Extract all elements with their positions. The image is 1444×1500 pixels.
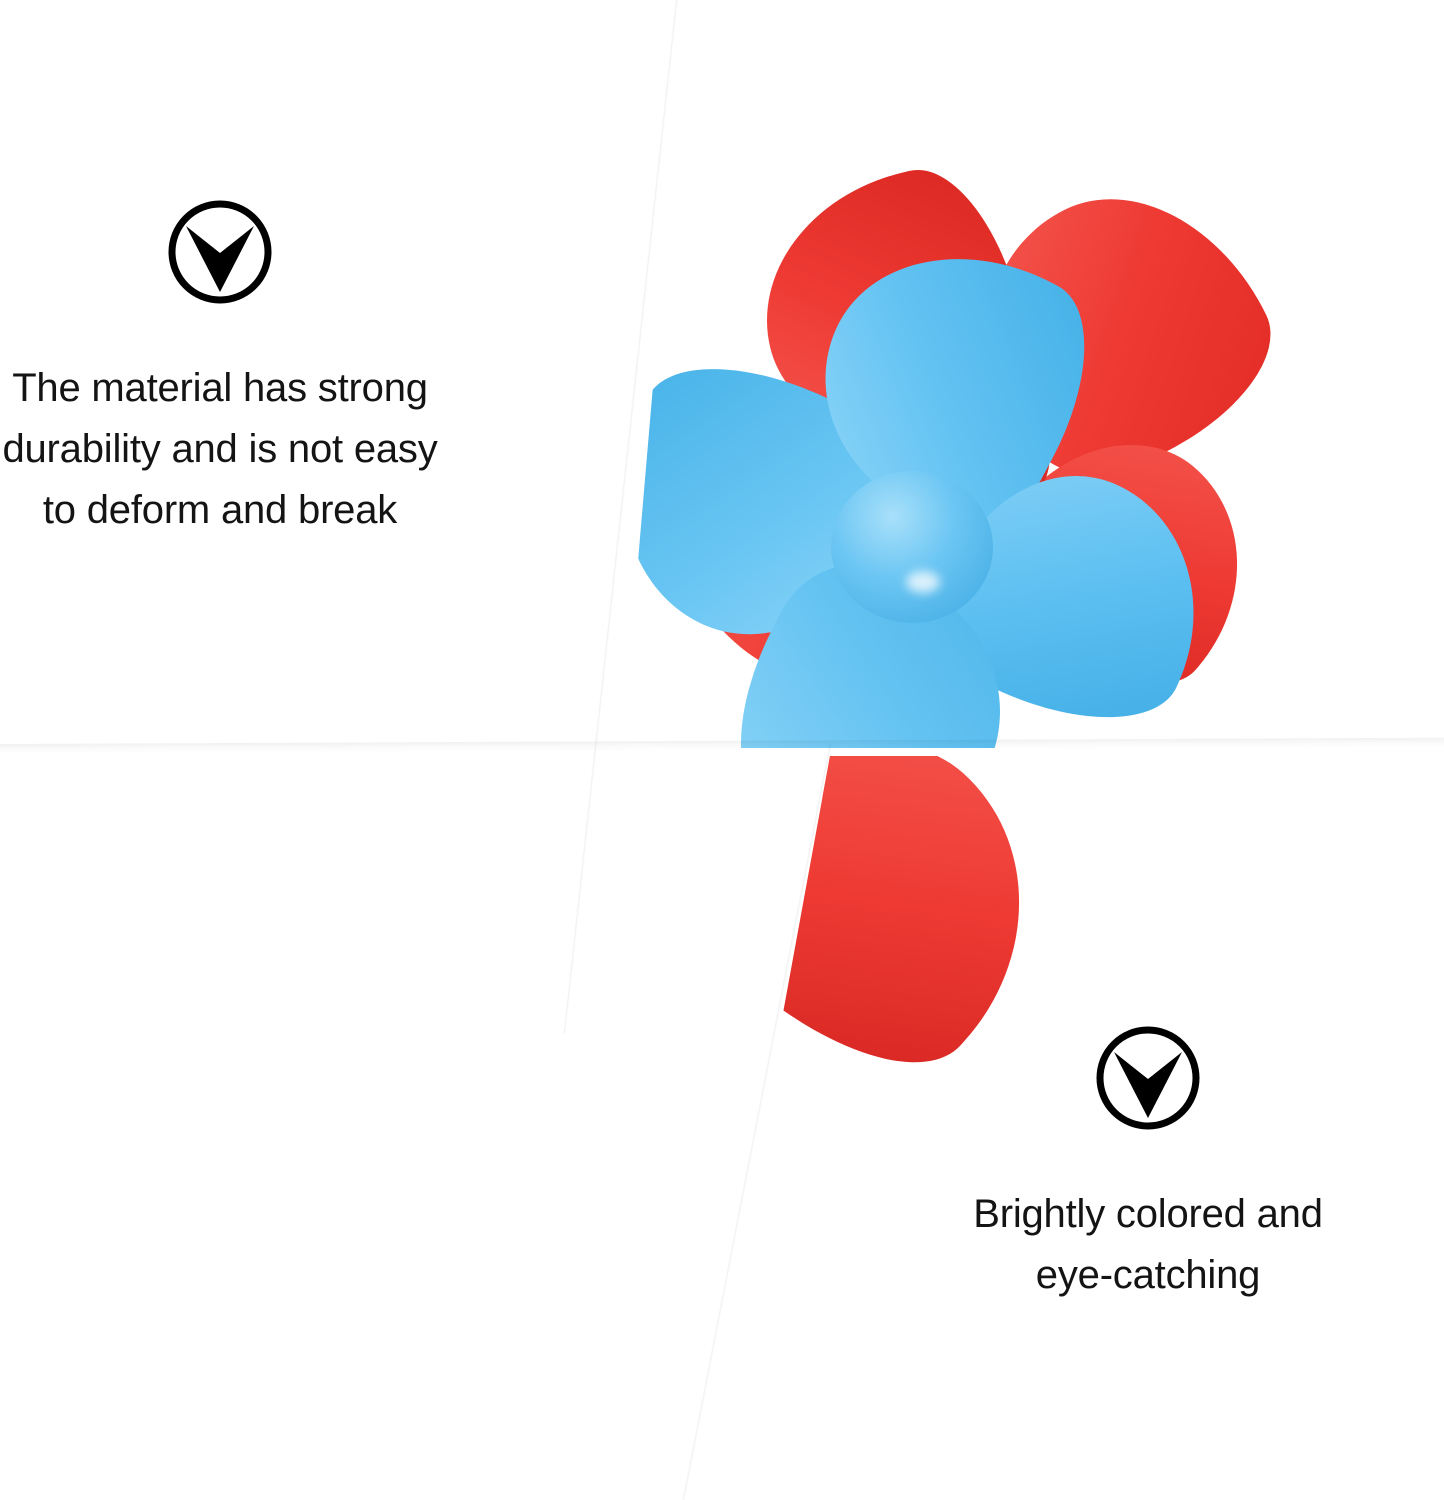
chevron-down-in-circle-icon bbox=[1092, 1022, 1204, 1134]
fan-hub-blue bbox=[831, 471, 993, 623]
fan-hub-blue bbox=[298, 997, 494, 1183]
feature-text-bright-color: Brightly colored and eye-catching bbox=[928, 1184, 1368, 1306]
feature-text-durability: The material has strong durability and i… bbox=[0, 358, 440, 540]
feature-block-durability: The material has strong durability and i… bbox=[0, 196, 440, 540]
feature-block-bright-color: Brightly colored and eye-catching bbox=[928, 1022, 1368, 1306]
fan-hub-red bbox=[616, 756, 784, 876]
product-infographic-page: The material has strong durability and i… bbox=[0, 0, 1444, 1500]
hub-highlight bbox=[386, 1118, 426, 1144]
chevron-down-in-circle-icon bbox=[164, 196, 276, 308]
